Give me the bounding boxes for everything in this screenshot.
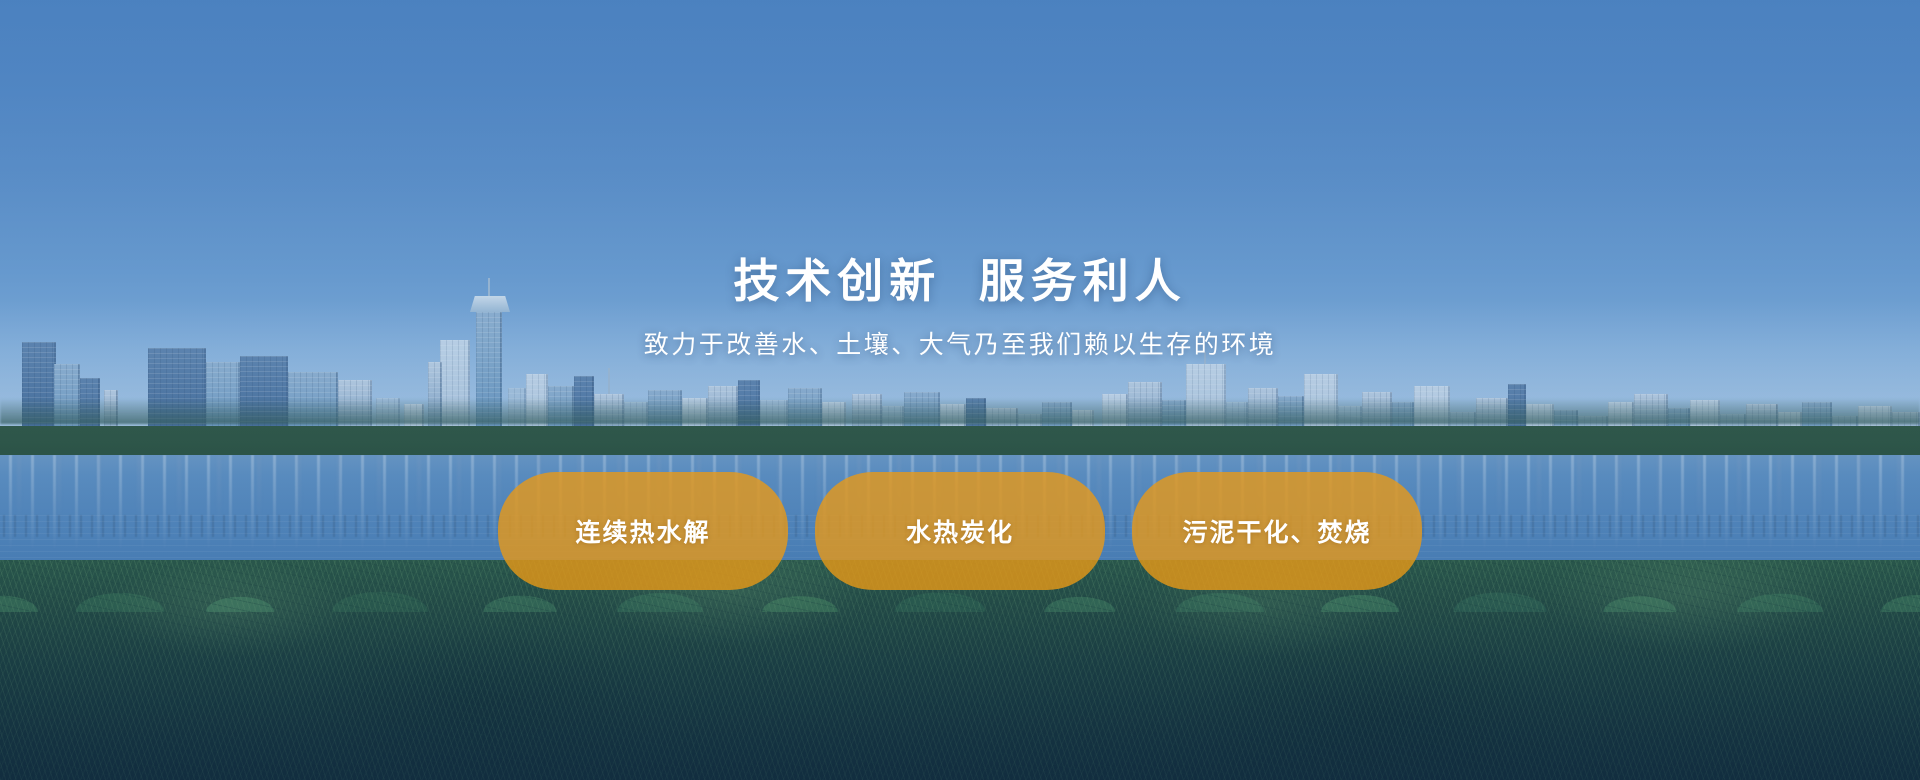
hero-content: 技术创新 服务利人 致力于改善水、土壤、大气乃至我们赖以生存的环境 [0,0,1920,780]
service-button-row: 连续热水解 水热炭化 污泥干化、焚烧 [0,472,1920,590]
service-button-sludge-drying-incineration[interactable]: 污泥干化、焚烧 [1132,472,1422,590]
hero-headline: 技术创新 服务利人 [733,258,1187,304]
service-button-label: 污泥干化、焚烧 [1182,513,1371,549]
service-button-label: 水热炭化 [906,513,1014,549]
service-button-label: 连续热水解 [575,513,710,549]
hero-subheadline: 致力于改善水、土壤、大气乃至我们赖以生存的环境 [644,333,1277,358]
hero-banner: 技术创新 服务利人 致力于改善水、土壤、大气乃至我们赖以生存的环境 连续热水解 … [0,0,1920,780]
service-button-hydrothermal-carbonization[interactable]: 水热炭化 [815,472,1105,590]
service-button-continuous-thermal-hydrolysis[interactable]: 连续热水解 [498,472,788,590]
